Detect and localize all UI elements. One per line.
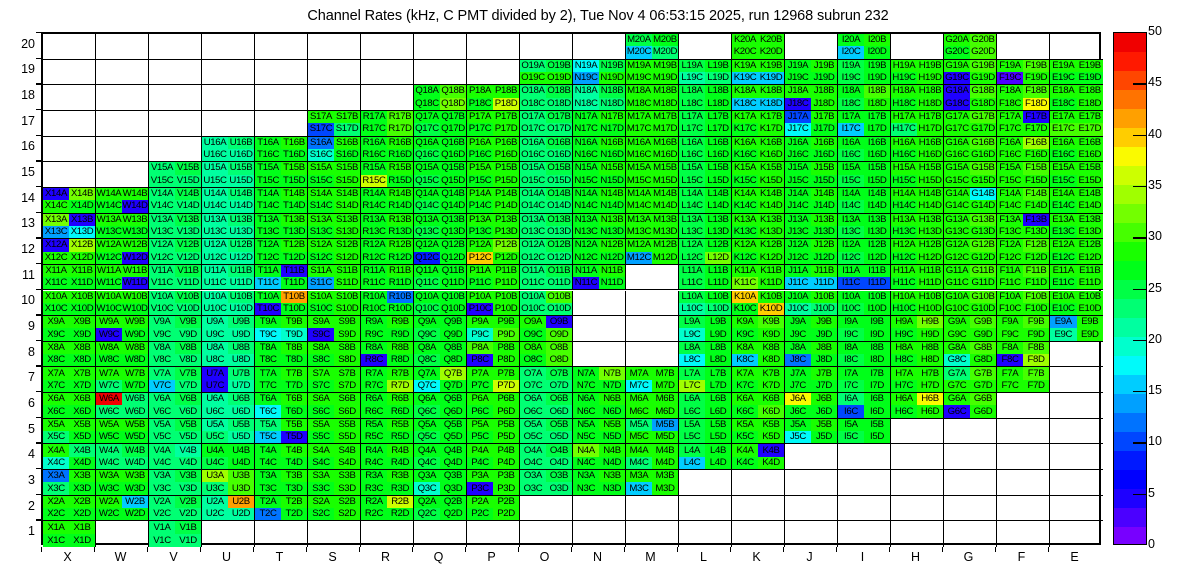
channel-H15B[interactable]: H15B [917,162,943,174]
channel-R15A[interactable]: R15A [361,162,387,174]
channel-Q6D[interactable]: Q6D [440,405,466,417]
channel-X8C[interactable]: X8C [43,354,69,366]
module-cell-O14[interactable]: O14AO14BO14CO14D [520,188,573,214]
module-cell-L20[interactable] [679,34,732,60]
channel-L11C[interactable]: L11C [679,277,705,289]
channel-L18A[interactable]: L18A [679,85,705,97]
channel-K15A[interactable]: K15A [732,162,758,174]
module-cell-T2[interactable]: T2AT2BT2CT2D [255,496,308,522]
module-cell-I17[interactable]: I17AI17BI17CI17D [838,111,891,137]
module-cell-L16[interactable]: L16AL16BL16CL16D [679,137,732,163]
channel-V10C[interactable]: V10C [149,303,175,315]
module-cell-F4[interactable] [997,444,1050,470]
channel-V11B[interactable]: V11B [175,265,201,277]
channel-J7A[interactable]: J7A [785,367,811,379]
channel-G19B[interactable]: G19B [970,60,996,72]
module-cell-E10[interactable]: E10AE10BE10CE10D [1050,291,1103,317]
channel-M13C[interactable]: M13C [626,226,652,238]
channel-T14B[interactable]: T14B [281,188,307,200]
channel-V8B[interactable]: V8B [175,342,201,354]
channel-P11D[interactable]: P11D [493,277,519,289]
channel-V1C[interactable]: V1C [149,534,175,547]
module-cell-X6[interactable]: X6AX6BX6CX6D [43,393,96,419]
channel-R16B[interactable]: R16B [387,137,413,149]
channel-V4C[interactable]: V4C [149,457,175,469]
channel-U15A[interactable]: U15A [202,162,228,174]
channel-K6A[interactable]: K6A [732,393,758,405]
module-cell-K3[interactable] [732,470,785,496]
channel-F7C[interactable]: F7C [997,380,1023,392]
channel-J8C[interactable]: J8C [785,354,811,366]
module-cell-G7[interactable]: G7AG7BG7CG7D [944,367,997,393]
module-cell-Q7[interactable]: Q7AQ7BQ7CQ7D [414,367,467,393]
channel-G11C[interactable]: G11C [944,277,970,289]
module-cell-G6[interactable]: G6AG6BG6CG6D [944,393,997,419]
channel-I14D[interactable]: I14D [864,200,890,212]
channel-N11D[interactable]: N11D [599,277,625,289]
channel-H13D[interactable]: H13D [917,226,943,238]
channel-H9D[interactable]: H9D [917,328,943,340]
channel-T9D[interactable]: T9D [281,328,307,340]
module-cell-S3[interactable]: S3AS3BS3CS3D [308,470,361,496]
channel-V7A[interactable]: V7A [149,367,175,379]
channel-M12D[interactable]: M12D [652,252,678,264]
channel-W5A[interactable]: W5A [96,419,122,431]
channel-I6B[interactable]: I6B [864,393,890,405]
channel-X7C[interactable]: X7C [43,380,69,392]
channel-X3B[interactable]: X3B [69,470,95,482]
channel-V11D[interactable]: V11D [175,277,201,289]
channel-K13A[interactable]: K13A [732,214,758,226]
channel-L9A[interactable]: L9A [679,316,705,328]
module-cell-U2[interactable]: U2AU2BU2CU2D [202,496,255,522]
channel-I6D[interactable]: I6D [864,405,890,417]
channel-S8D[interactable]: S8D [334,354,360,366]
channel-G17C[interactable]: G17C [944,123,970,135]
channel-V3C[interactable]: V3C [149,482,175,494]
channel-T8C[interactable]: T8C [255,354,281,366]
channel-N6D[interactable]: N6D [599,405,625,417]
channel-T16B[interactable]: T16B [281,137,307,149]
module-cell-Q10[interactable]: Q10AQ10BQ10CQ10D [414,291,467,317]
module-cell-R5[interactable]: R5AR5BR5CR5D [361,419,414,445]
module-cell-V12[interactable]: V12AV12BV12CV12D [149,239,202,265]
channel-M20D[interactable]: M20D [652,46,678,58]
channel-U3C[interactable]: U3C [202,482,228,494]
channel-J6D[interactable]: J6D [811,405,837,417]
channel-H18B[interactable]: H18B [917,85,943,97]
channel-M16D[interactable]: M16D [652,149,678,161]
channel-U4D[interactable]: U4D [228,457,254,469]
module-cell-K16[interactable]: K16AK16BK16CK16D [732,137,785,163]
module-cell-X15[interactable] [43,162,96,188]
channel-W7C[interactable]: W7C [96,380,122,392]
channel-Q3A[interactable]: Q3A [414,470,440,482]
channel-L13C[interactable]: L13C [679,226,705,238]
module-cell-S14[interactable]: S14AS14BS14CS14D [308,188,361,214]
module-cell-G10[interactable]: G10AG10BG10CG10D [944,291,997,317]
channel-V2B[interactable]: V2B [175,496,201,508]
module-cell-H17[interactable]: H17AH17BH17CH17D [891,111,944,137]
channel-T7A[interactable]: T7A [255,367,281,379]
channel-I18A[interactable]: I18A [838,85,864,97]
module-cell-G9[interactable]: G9AG9BG9CG9D [944,316,997,342]
channel-E18B[interactable]: E18B [1077,85,1104,97]
channel-V4A[interactable]: V4A [149,444,175,456]
channel-E14B[interactable]: E14B [1077,188,1104,200]
channel-K9C[interactable]: K9C [732,328,758,340]
channel-R8A[interactable]: R8A [361,342,387,354]
channel-Q15A[interactable]: Q15A [414,162,440,174]
channel-G16B[interactable]: G16B [970,137,996,149]
channel-P17D[interactable]: P17D [493,123,519,135]
channel-X7A[interactable]: X7A [43,367,69,379]
module-cell-R18[interactable] [361,85,414,111]
module-cell-R3[interactable]: R3AR3BR3CR3D [361,470,414,496]
channel-M16B[interactable]: M16B [652,137,678,149]
channel-L10A[interactable]: L10A [679,291,705,303]
channel-F18B[interactable]: F18B [1023,85,1049,97]
channel-X13B[interactable]: X13B [69,214,95,226]
channel-Q6B[interactable]: Q6B [440,393,466,405]
channel-P16B[interactable]: P16B [493,137,519,149]
channel-V14A[interactable]: V14A [149,188,175,200]
module-cell-O5[interactable]: O5AO5BO5CO5D [520,419,573,445]
channel-X1D[interactable]: X1D [69,534,95,547]
module-cell-I2[interactable] [838,496,891,522]
channel-O11A[interactable]: O11A [520,265,546,277]
channel-M18D[interactable]: M18D [652,98,678,110]
module-cell-G17[interactable]: G17AG17BG17CG17D [944,111,997,137]
module-cell-R13[interactable]: R13AR13BR13CR13D [361,214,414,240]
module-cell-G14[interactable]: G14AG14BG14CG14D [944,188,997,214]
module-cell-M18[interactable]: M18AM18BM18CM18D [626,85,679,111]
channel-W8D[interactable]: W8D [122,354,148,366]
channel-U13A[interactable]: U13A [202,214,228,226]
channel-J13A[interactable]: J13A [785,214,811,226]
channel-U15B[interactable]: U15B [228,162,254,174]
channel-Q13B[interactable]: Q13B [440,214,466,226]
module-cell-Q8[interactable]: Q8AQ8BQ8CQ8D [414,342,467,368]
module-cell-X4[interactable]: X4AX4BX4CX4D [43,444,96,470]
channel-E19D[interactable]: E19D [1077,72,1104,84]
channel-E18C[interactable]: E18C [1050,98,1077,110]
module-cell-K15[interactable]: K15AK15BK15CK15D [732,162,785,188]
channel-K8C[interactable]: K8C [732,354,758,366]
channel-L6C[interactable]: L6C [679,405,705,417]
channel-X4B[interactable]: X4B [69,444,95,456]
channel-H18A[interactable]: H18A [891,85,917,97]
channel-N17B[interactable]: N17B [599,111,625,123]
channel-Q9C[interactable]: Q9C [414,328,440,340]
channel-U14D[interactable]: U14D [228,200,254,212]
channel-T12D[interactable]: T12D [281,252,307,264]
module-cell-P11[interactable]: P11AP11BP11CP11D [467,265,520,291]
channel-X1A[interactable]: X1A [43,521,69,534]
channel-K11C[interactable]: K11C [732,277,758,289]
channel-I19A[interactable]: I19A [838,60,864,72]
channel-U6D[interactable]: U6D [228,405,254,417]
channel-E13D[interactable]: E13D [1077,226,1104,238]
channel-O14A[interactable]: O14A [520,188,546,200]
channel-H7A[interactable]: H7A [891,367,917,379]
channel-R17D[interactable]: R17D [387,123,413,135]
module-cell-Q19[interactable] [414,60,467,86]
channel-W13A[interactable]: W13A [96,214,122,226]
channel-J15D[interactable]: J15D [811,175,837,187]
channel-N5B[interactable]: N5B [599,419,625,431]
channel-G6A[interactable]: G6A [944,393,970,405]
channel-O10D[interactable]: O10D [546,303,572,315]
module-cell-E8[interactable] [1050,342,1103,368]
channel-X12A[interactable]: X12A [43,239,69,251]
channel-M19D[interactable]: M19D [652,72,678,84]
channel-F15D[interactable]: F15D [1023,175,1049,187]
channel-H17B[interactable]: H17B [917,111,943,123]
channel-S2B[interactable]: S2B [334,496,360,508]
channel-G11D[interactable]: G11D [970,277,996,289]
channel-X11B[interactable]: X11B [69,265,95,277]
channel-H6B[interactable]: H6B [917,393,943,405]
channel-K14D[interactable]: K14D [758,200,784,212]
module-cell-I1[interactable] [838,521,891,547]
channel-R13D[interactable]: R13D [387,226,413,238]
channel-R11D[interactable]: R11D [387,277,413,289]
module-cell-P15[interactable]: P15AP15BP15CP15D [467,162,520,188]
module-cell-N2[interactable] [573,496,626,522]
module-cell-P8[interactable]: P8AP8BP8CP8D [467,342,520,368]
channel-G18D[interactable]: G18D [970,98,996,110]
channel-I6A[interactable]: I6A [838,393,864,405]
channel-T9C[interactable]: T9C [255,328,281,340]
channel-S15A[interactable]: S15A [308,162,334,174]
module-cell-Q14[interactable]: Q14AQ14BQ14CQ14D [414,188,467,214]
channel-S3D[interactable]: S3D [334,482,360,494]
channel-X4A[interactable]: X4A [43,444,69,456]
channel-O18B[interactable]: O18B [546,85,572,97]
channel-V4B[interactable]: V4B [175,444,201,456]
channel-V9C[interactable]: V9C [149,328,175,340]
channel-P13C[interactable]: P13C [467,226,493,238]
channel-U12D[interactable]: U12D [228,252,254,264]
channel-U15C[interactable]: U15C [202,175,228,187]
channel-P5D[interactable]: P5D [493,431,519,443]
channel-O13A[interactable]: O13A [520,214,546,226]
channel-M7A[interactable]: M7A [626,367,652,379]
module-cell-I12[interactable]: I12AI12BI12CI12D [838,239,891,265]
channel-G10D[interactable]: G10D [970,303,996,315]
channel-T13C[interactable]: T13C [255,226,281,238]
channel-R4B[interactable]: R4B [387,444,413,456]
module-cell-N8[interactable] [573,342,626,368]
module-cell-X12[interactable]: X12AX12BX12CX12D [43,239,96,265]
channel-W4C[interactable]: W4C [96,457,122,469]
channel-K13D[interactable]: K13D [758,226,784,238]
channel-J12D[interactable]: J12D [811,252,837,264]
channel-L16A[interactable]: L16A [679,137,705,149]
module-cell-U20[interactable] [202,34,255,60]
module-cell-E16[interactable]: E16AE16BE16CE16D [1050,137,1103,163]
channel-N15A[interactable]: N15A [573,162,599,174]
channel-S9B[interactable]: S9B [334,316,360,328]
channel-R5B[interactable]: R5B [387,419,413,431]
channel-U2C[interactable]: U2C [202,508,228,520]
channel-X13C[interactable]: X13C [43,226,69,238]
channel-P11B[interactable]: P11B [493,265,519,277]
module-cell-V18[interactable] [149,85,202,111]
channel-M12B[interactable]: M12B [652,239,678,251]
module-cell-P4[interactable]: P4AP4BP4CP4D [467,444,520,470]
channel-S10A[interactable]: S10A [308,291,334,303]
channel-W14D[interactable]: W14D [122,200,148,212]
channel-O7A[interactable]: O7A [520,367,546,379]
channel-R11C[interactable]: R11C [361,277,387,289]
channel-S13B[interactable]: S13B [334,214,360,226]
channel-P15A[interactable]: P15A [467,162,493,174]
channel-N19A[interactable]: N19A [573,60,599,72]
channel-I18D[interactable]: I18D [864,98,890,110]
channel-G13B[interactable]: G13B [970,214,996,226]
channel-I20B[interactable]: I20B [864,34,890,46]
channel-N5D[interactable]: N5D [599,431,625,443]
module-cell-G13[interactable]: G13AG13BG13CG13D [944,214,997,240]
module-cell-X7[interactable]: X7AX7BX7CX7D [43,367,96,393]
channel-O15C[interactable]: O15C [520,175,546,187]
channel-O16C[interactable]: O16C [520,149,546,161]
channel-J18D[interactable]: J18D [811,98,837,110]
module-cell-S5[interactable]: S5AS5BS5CS5D [308,419,361,445]
module-cell-T16[interactable]: T16AT16BT16CT16D [255,137,308,163]
channel-V13B[interactable]: V13B [175,214,201,226]
channel-O6A[interactable]: O6A [520,393,546,405]
channel-H14D[interactable]: H14D [917,200,943,212]
channel-M3C[interactable]: M3C [626,482,652,494]
channel-R17A[interactable]: R17A [361,111,387,123]
module-cell-U12[interactable]: U12AU12BU12CU12D [202,239,255,265]
channel-I12A[interactable]: I12A [838,239,864,251]
channel-I8C[interactable]: I8C [838,354,864,366]
channel-I14A[interactable]: I14A [838,188,864,200]
module-cell-W15[interactable] [96,162,149,188]
channel-E14A[interactable]: E14A [1050,188,1077,200]
module-cell-I13[interactable]: I13AI13BI13CI13D [838,214,891,240]
channel-Q10A[interactable]: Q10A [414,291,440,303]
channel-I18B[interactable]: I18B [864,85,890,97]
module-cell-N16[interactable]: N16AN16BN16CN16D [573,137,626,163]
channel-S7B[interactable]: S7B [334,367,360,379]
module-cell-W1[interactable] [96,521,149,547]
channel-M15D[interactable]: M15D [652,175,678,187]
module-cell-F8[interactable]: F8AF8BF8CF8D [997,342,1050,368]
module-cell-L5[interactable]: L5AL5BL5CL5D [679,419,732,445]
channel-U9C[interactable]: U9C [202,328,228,340]
module-cell-O19[interactable]: O19AO19BO19CO19D [520,60,573,86]
channel-N13B[interactable]: N13B [599,214,625,226]
channel-W7A[interactable]: W7A [96,367,122,379]
module-cell-M15[interactable]: M15AM15BM15CM15D [626,162,679,188]
channel-O18C[interactable]: O18C [520,98,546,110]
channel-H12A[interactable]: H12A [891,239,917,251]
channel-M19C[interactable]: M19C [626,72,652,84]
channel-L8D[interactable]: L8D [705,354,731,366]
module-cell-X16[interactable] [43,137,96,163]
channel-F9A[interactable]: F9A [997,316,1023,328]
channel-Q5A[interactable]: Q5A [414,419,440,431]
channel-Q14C[interactable]: Q14C [414,200,440,212]
channel-J17A[interactable]: J17A [785,111,811,123]
channel-L18B[interactable]: L18B [705,85,731,97]
channel-M19A[interactable]: M19A [626,60,652,72]
module-cell-N17[interactable]: N17AN17BN17CN17D [573,111,626,137]
channel-W3D[interactable]: W3D [122,482,148,494]
channel-R6C[interactable]: R6C [361,405,387,417]
module-cell-F9[interactable]: F9AF9BF9CF9D [997,316,1050,342]
channel-M3B[interactable]: M3B [652,470,678,482]
module-cell-L14[interactable]: L14AL14BL14CL14D [679,188,732,214]
channel-Q4A[interactable]: Q4A [414,444,440,456]
channel-X4C[interactable]: X4C [43,457,69,469]
channel-X10B[interactable]: X10B [69,291,95,303]
module-cell-J11[interactable]: J11AJ11BJ11CJ11D [785,265,838,291]
channel-E11D[interactable]: E11D [1077,277,1104,289]
channel-T7D[interactable]: T7D [281,380,307,392]
module-cell-F13[interactable]: F13AF13BF13CF13D [997,214,1050,240]
channel-O15D[interactable]: O15D [546,175,572,187]
channel-R10C[interactable]: R10C [361,303,387,315]
channel-W11C[interactable]: W11C [96,277,122,289]
channel-P8D[interactable]: P8D [493,354,519,366]
channel-P7A[interactable]: P7A [467,367,493,379]
channel-W10A[interactable]: W10A [96,291,122,303]
channel-K7D[interactable]: K7D [758,380,784,392]
channel-U16C[interactable]: U16C [202,149,228,161]
channel-T12A[interactable]: T12A [255,239,281,251]
module-cell-V19[interactable] [149,60,202,86]
module-cell-N3[interactable]: N3AN3BN3CN3D [573,470,626,496]
channel-P9A[interactable]: P9A [467,316,493,328]
module-cell-G20[interactable]: G20AG20BG20CG20D [944,34,997,60]
module-cell-L12[interactable]: L12AL12BL12CL12D [679,239,732,265]
channel-L9B[interactable]: L9B [705,316,731,328]
channel-X5B[interactable]: X5B [69,419,95,431]
channel-J11D[interactable]: J11D [811,277,837,289]
module-cell-U16[interactable]: U16AU16BU16CU16D [202,137,255,163]
channel-P2A[interactable]: P2A [467,496,493,508]
module-cell-R6[interactable]: R6AR6BR6CR6D [361,393,414,419]
module-cell-T4[interactable]: T4AT4BT4CT4D [255,444,308,470]
module-cell-X5[interactable]: X5AX5BX5CX5D [43,419,96,445]
channel-H12C[interactable]: H12C [891,252,917,264]
channel-G8B[interactable]: G8B [970,342,996,354]
channel-U12A[interactable]: U12A [202,239,228,251]
channel-I10C[interactable]: I10C [838,303,864,315]
channel-O15B[interactable]: O15B [546,162,572,174]
module-cell-U13[interactable]: U13AU13BU13CU13D [202,214,255,240]
channel-T15A[interactable]: T15A [255,162,281,174]
module-cell-I6[interactable]: I6AI6BI6CI6D [838,393,891,419]
channel-M6C[interactable]: M6C [626,405,652,417]
channel-O12A[interactable]: O12A [520,239,546,251]
channel-U6A[interactable]: U6A [202,393,228,405]
channel-M6B[interactable]: M6B [652,393,678,405]
channel-E16A[interactable]: E16A [1050,137,1077,149]
module-cell-H2[interactable] [891,496,944,522]
channel-F11C[interactable]: F11C [997,277,1023,289]
module-cell-F20[interactable] [997,34,1050,60]
channel-M13B[interactable]: M13B [652,214,678,226]
module-cell-Q2[interactable]: Q2AQ2BQ2CQ2D [414,496,467,522]
channel-T11D[interactable]: T11D [281,277,307,289]
